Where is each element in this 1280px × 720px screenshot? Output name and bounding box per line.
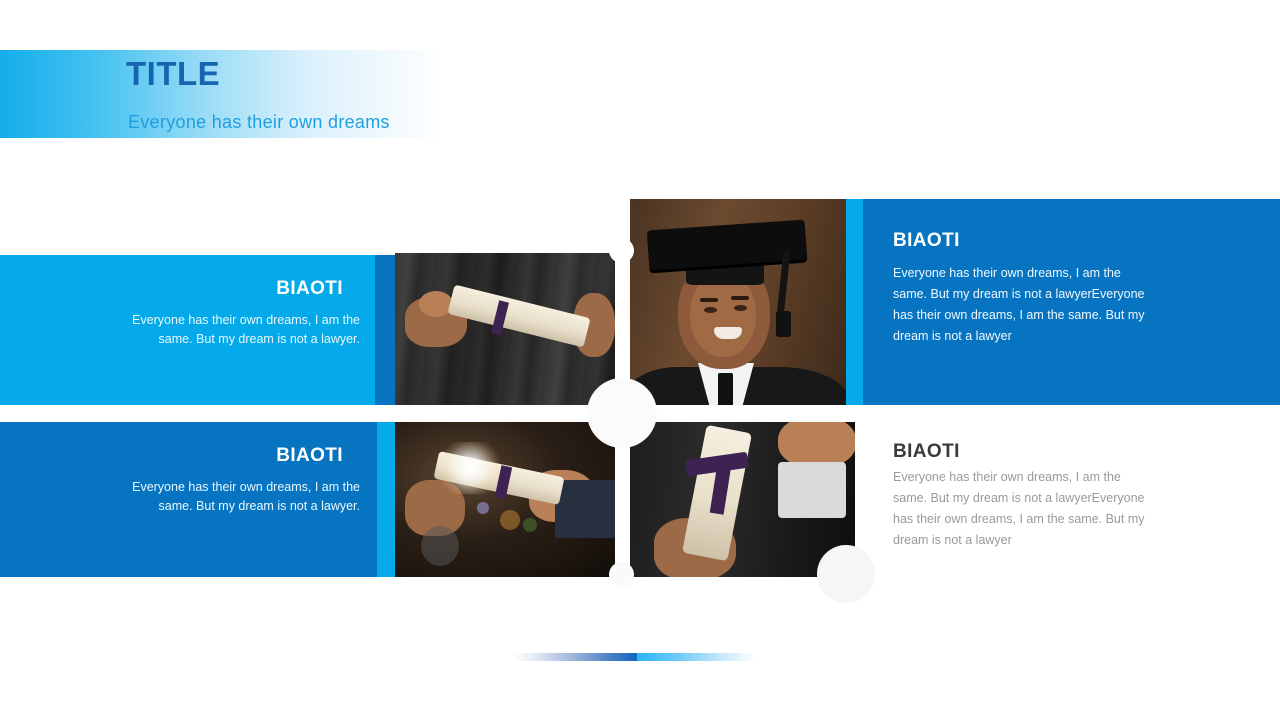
photo-scene: [395, 253, 615, 405]
flare-dot: [477, 502, 489, 514]
photo-scene: [630, 199, 846, 405]
panel-bottom-right-heading: BIAOTI: [893, 441, 960, 463]
footer-bar-right-segment: [637, 653, 755, 661]
photo-scene: [630, 422, 855, 577]
panel-bottom-right[interactable]: BIAOTI Everyone has their own dreams, I …: [880, 422, 1280, 577]
photo-graduate-hand-holding-diploma: [395, 253, 615, 405]
decor-circle-large-center: [587, 378, 657, 448]
eyebrow-right: [731, 296, 749, 300]
shirt-cuff: [778, 462, 846, 518]
flare-dot: [500, 510, 520, 530]
accent-strip-top-left: [375, 255, 395, 405]
lens-flare: [437, 442, 503, 494]
panel-top-left-body: Everyone has their own dreams, I am the …: [100, 311, 360, 349]
page-title: TITLE: [126, 56, 220, 92]
footer-bar-left-segment: [513, 653, 637, 661]
wristwatch: [421, 526, 459, 566]
panel-bottom-left-body: Everyone has their own dreams, I am the …: [100, 478, 360, 516]
necktie: [718, 373, 733, 405]
panel-top-right-body: Everyone has their own dreams, I am the …: [893, 263, 1155, 347]
decor-circle-small-bottom: [609, 562, 634, 587]
decor-circle-small-top: [609, 238, 634, 263]
eyebrow-left: [700, 298, 718, 302]
panel-top-left[interactable]: BIAOTI Everyone has their own dreams, I …: [0, 255, 375, 405]
slide-canvas: TITLE Everyone has their own dreams BIAO…: [0, 0, 1280, 720]
panel-bottom-right-body: Everyone has their own dreams, I am the …: [893, 467, 1155, 551]
sleeve: [555, 480, 615, 538]
accent-strip-bottom-left: [377, 422, 395, 577]
footer-gradient-bar: [513, 653, 755, 661]
finger-highlight: [419, 291, 453, 317]
panel-top-right-heading: BIAOTI: [893, 230, 960, 252]
panel-bottom-left[interactable]: BIAOTI Everyone has their own dreams, I …: [0, 422, 377, 577]
panel-top-right[interactable]: BIAOTI Everyone has their own dreams, I …: [863, 199, 1280, 405]
decor-circle-large-bottom-right: [817, 545, 875, 603]
panel-top-left-heading: BIAOTI: [276, 278, 343, 300]
photo-graduate-portrait: [630, 199, 846, 405]
eye-right: [734, 305, 747, 311]
flare-dot: [523, 518, 537, 532]
page-subtitle: Everyone has their own dreams: [128, 112, 390, 133]
photo-diploma-handover-flare: [395, 422, 615, 577]
smile: [714, 327, 742, 339]
panel-bottom-left-heading: BIAOTI: [276, 445, 343, 467]
tassel: [776, 311, 791, 337]
eye-left: [704, 307, 717, 313]
photo-diploma-with-ribbon: [630, 422, 855, 577]
accent-strip-top-right: [846, 199, 863, 405]
photo-scene: [395, 422, 615, 577]
